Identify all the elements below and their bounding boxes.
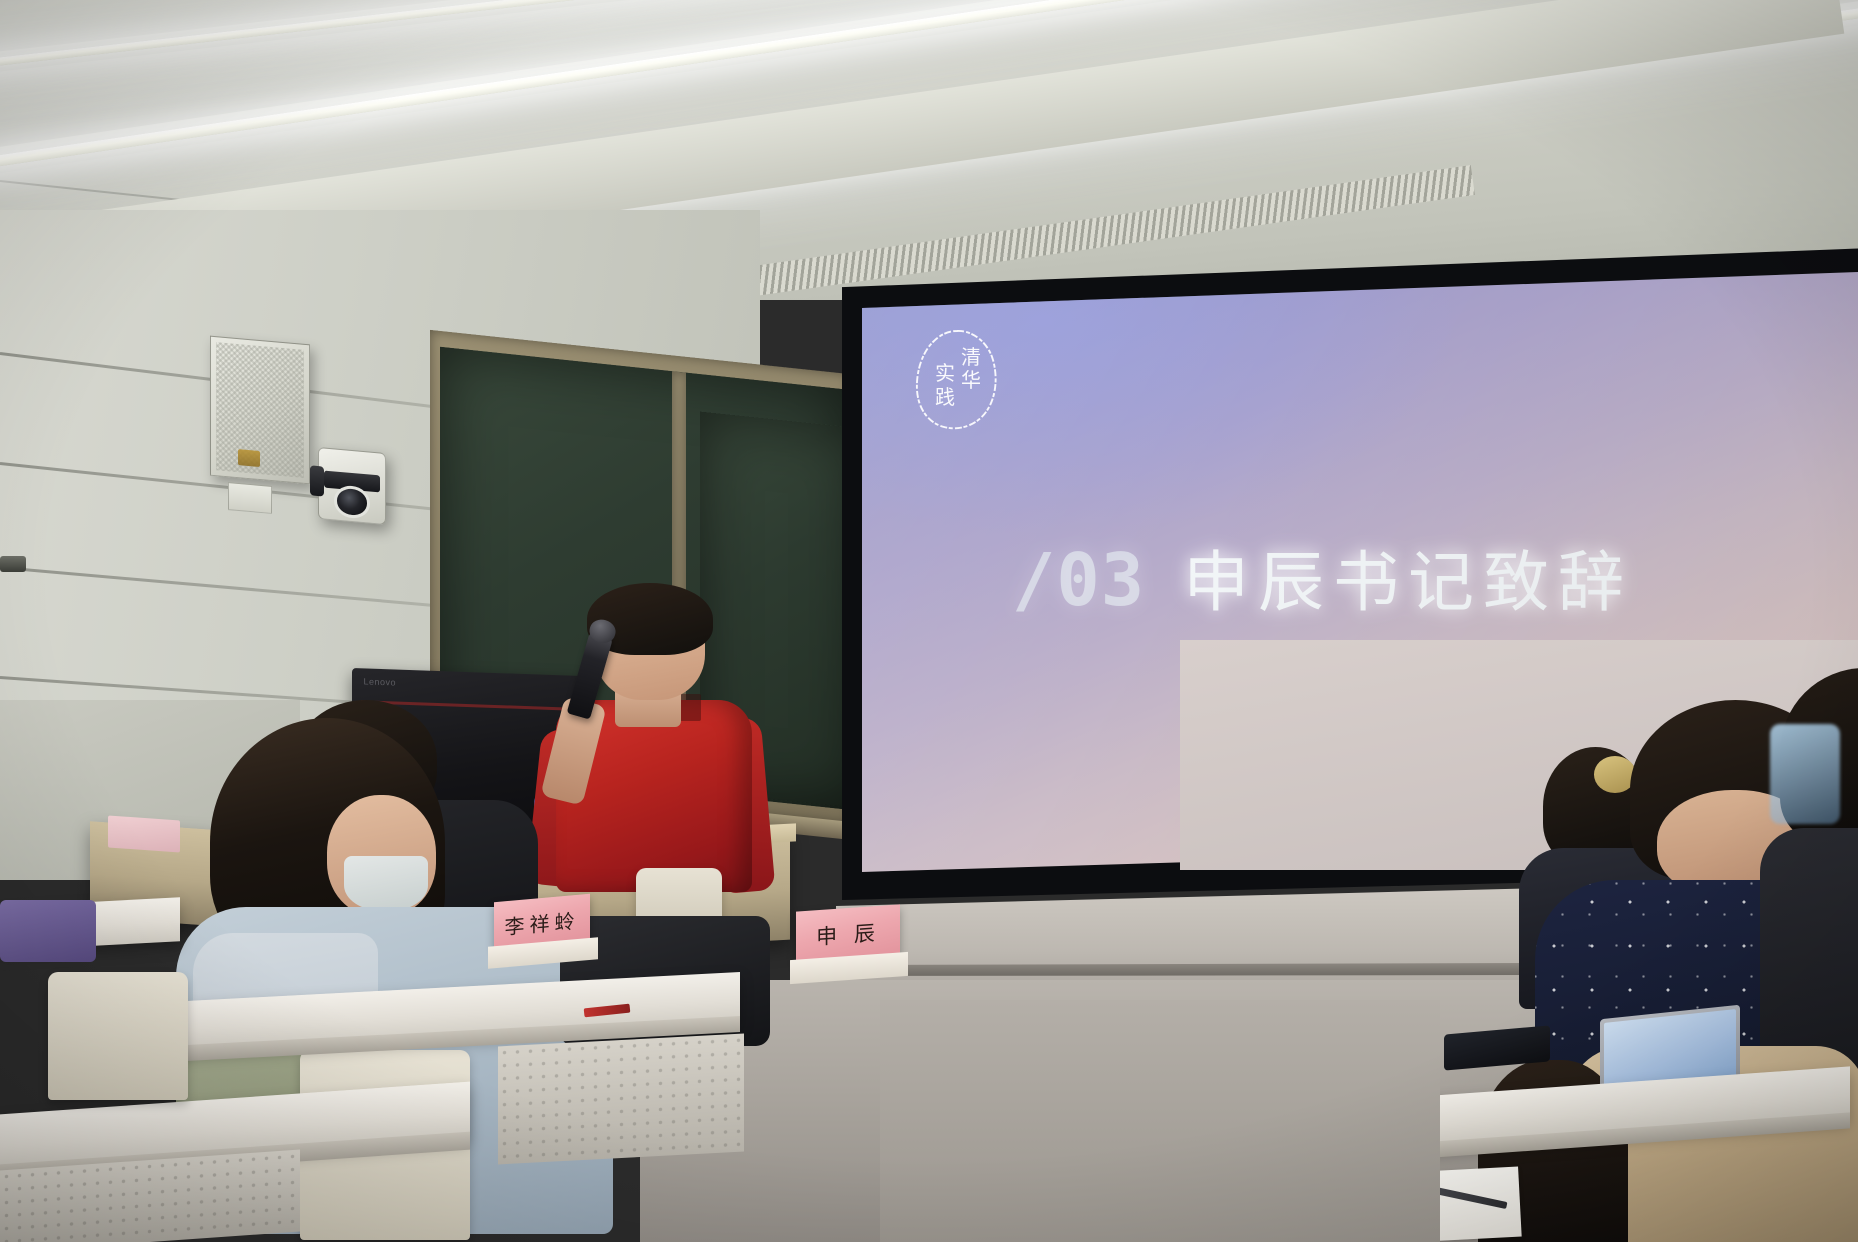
security-camera-icon xyxy=(318,447,386,525)
screen-reflection-glow xyxy=(1770,724,1840,824)
slide-section-number: /03 xyxy=(1012,544,1145,616)
door-hinge xyxy=(0,556,26,572)
placard-name-text: 李祥蛉 xyxy=(505,904,580,940)
purple-bag xyxy=(0,900,96,962)
logo-char-hua: 华 xyxy=(961,368,981,392)
classroom-photo: 清 华 实 践 /03 申辰书记致辞 Lenovo xyxy=(0,0,1858,1242)
desk-perforation xyxy=(498,1034,744,1165)
slide-logo: 清 华 实 践 xyxy=(914,328,1000,432)
speaker-badge-icon xyxy=(238,449,260,467)
wall-mount-plate xyxy=(228,482,272,514)
monitor-brand-label: Lenovo xyxy=(364,676,397,687)
student-face-mask xyxy=(344,856,428,912)
logo-char-shi: 实 xyxy=(935,361,955,385)
logo-char-jian: 践 xyxy=(935,385,955,409)
slide-title-group: /03 申辰书记致辞 xyxy=(1012,544,1633,616)
placard-name-text: 申 辰 xyxy=(816,917,880,951)
wall-speaker xyxy=(210,336,310,485)
open-floor-area xyxy=(880,1000,1440,1242)
camera-arm xyxy=(310,465,325,496)
logo-char-qing: 清 xyxy=(961,345,981,369)
box-on-cabinet xyxy=(108,815,180,852)
slide-heading: 申辰书记致辞 xyxy=(1183,550,1633,616)
chair xyxy=(48,972,188,1100)
desk-front-panel xyxy=(498,1034,744,1165)
